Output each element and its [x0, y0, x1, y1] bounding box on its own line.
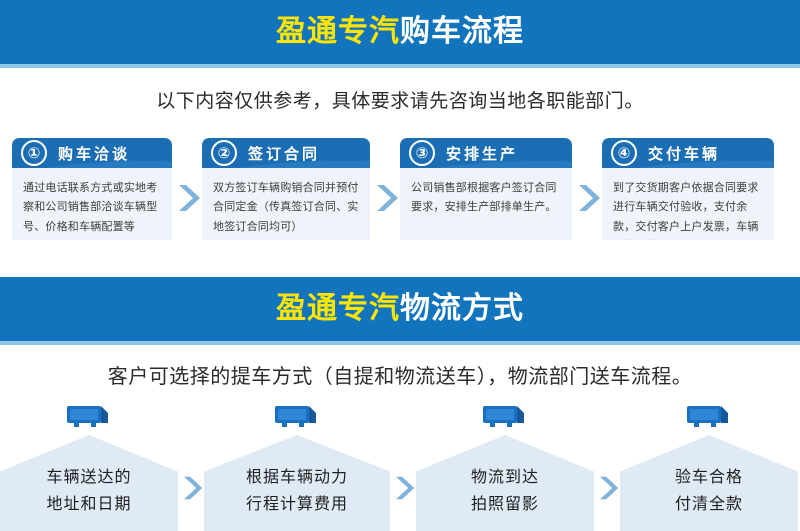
logistics-card-3-line2: 拍照留影	[416, 491, 594, 517]
step-3-number: ③	[409, 140, 435, 166]
step-4-number: ④	[611, 140, 637, 166]
logistics-card-3-text: 物流到达 拍照留影	[416, 464, 594, 517]
purchase-banner-title: 盈通专汽购车流程	[276, 17, 524, 47]
step-3-header: ③ 安排生产	[400, 138, 572, 168]
logistics-card-2-line1: 根据车辆动力	[204, 464, 390, 490]
step-2-body: 双方签订车辆购销合同并预付合同定金（传真签订合同、实地签订合同均可）	[202, 168, 370, 236]
logistics-title-text: 物流方式	[400, 291, 524, 326]
truck-icon	[481, 404, 529, 434]
logistics-card-4-text: 验车合格 付清全款	[620, 464, 798, 517]
logistics-banner-title: 盈通专汽物流方式	[276, 294, 524, 324]
logistics-card-1-line1: 车辆送达的	[0, 464, 178, 490]
chevron-right-icon	[370, 181, 400, 215]
step-1-header: ① 购车洽谈	[12, 138, 172, 168]
step-card-3[interactable]: ③ 安排生产 公司销售部根据客户签订合同要求，安排生产部排单生产。	[400, 138, 572, 240]
truck-icon	[273, 404, 321, 434]
chevron-right-icon	[572, 181, 602, 215]
logistics-card-4[interactable]: 验车合格 付清全款	[620, 404, 798, 531]
chevron-right-icon	[172, 181, 202, 215]
logistics-card-3-line1: 物流到达	[416, 464, 594, 490]
logistics-card-1[interactable]: 车辆送达的 地址和日期	[0, 404, 178, 531]
step-2-title: 签订合同	[248, 138, 320, 168]
logistics-card-3[interactable]: 物流到达 拍照留影	[416, 404, 594, 531]
step-1-title: 购车洽谈	[58, 138, 130, 168]
logistics-banner: 盈通专汽物流方式	[0, 277, 800, 341]
logistics-card-1-text: 车辆送达的 地址和日期	[0, 464, 178, 517]
step-1-body: 通过电话联系方式或实地考察和公司销售部洽谈车辆型号、价格和车辆配置等	[12, 168, 172, 236]
step-3-title: 安排生产	[446, 138, 518, 168]
chevron-right-icon	[178, 473, 204, 503]
logistics-card-2-text: 根据车辆动力 行程计算费用	[204, 464, 390, 517]
chevron-right-icon	[390, 473, 416, 503]
step-2-header: ② 签订合同	[202, 138, 370, 168]
logistics-steps-row: 车辆送达的 地址和日期 根据车辆动力 行程计算费用	[0, 404, 800, 531]
step-4-header: ④ 交付车辆	[602, 138, 774, 168]
purchase-banner-underline	[0, 64, 800, 68]
purchase-banner: 盈通专汽购车流程	[0, 0, 800, 64]
step-4-body: 到了交货期客户依据合同要求进行车辆交付验收，支付余款，交付客户上户发票，车辆合格…	[602, 168, 774, 240]
logistics-card-2-line2: 行程计算费用	[204, 491, 390, 517]
step-card-4[interactable]: ④ 交付车辆 到了交货期客户依据合同要求进行车辆交付验收，支付余款，交付客户上户…	[602, 138, 774, 240]
logistics-subtitle: 客户可选择的提车方式（自提和物流送车），物流部门送车流程。	[0, 360, 800, 389]
step-card-2[interactable]: ② 签订合同 双方签订车辆购销合同并预付合同定金（传真签订合同、实地签订合同均可…	[202, 138, 370, 240]
purchase-title-text: 购车流程	[400, 14, 524, 49]
brand-name: 盈通专汽	[276, 291, 400, 326]
logistics-card-1-line2: 地址和日期	[0, 491, 178, 517]
logistics-card-4-line2: 付清全款	[620, 491, 798, 517]
step-4-title: 交付车辆	[648, 138, 720, 168]
step-2-number: ②	[211, 140, 237, 166]
step-card-1[interactable]: ① 购车洽谈 通过电话联系方式或实地考察和公司销售部洽谈车辆型号、价格和车辆配置…	[12, 138, 172, 240]
logistics-card-4-line1: 验车合格	[620, 464, 798, 490]
chevron-right-icon	[594, 473, 620, 503]
logistics-card-2[interactable]: 根据车辆动力 行程计算费用	[204, 404, 390, 531]
brand-name: 盈通专汽	[276, 14, 400, 49]
step-3-body: 公司销售部根据客户签订合同要求，安排生产部排单生产。	[400, 168, 572, 217]
purchase-steps-row: ① 购车洽谈 通过电话联系方式或实地考察和公司销售部洽谈车辆型号、价格和车辆配置…	[0, 138, 800, 243]
truck-icon	[65, 404, 113, 434]
purchase-subtitle: 以下内容仅供参考，具体要求请先咨询当地各职能部门。	[0, 86, 800, 113]
truck-icon	[685, 404, 733, 434]
logistics-banner-underline	[0, 341, 800, 345]
step-1-number: ①	[21, 140, 47, 166]
